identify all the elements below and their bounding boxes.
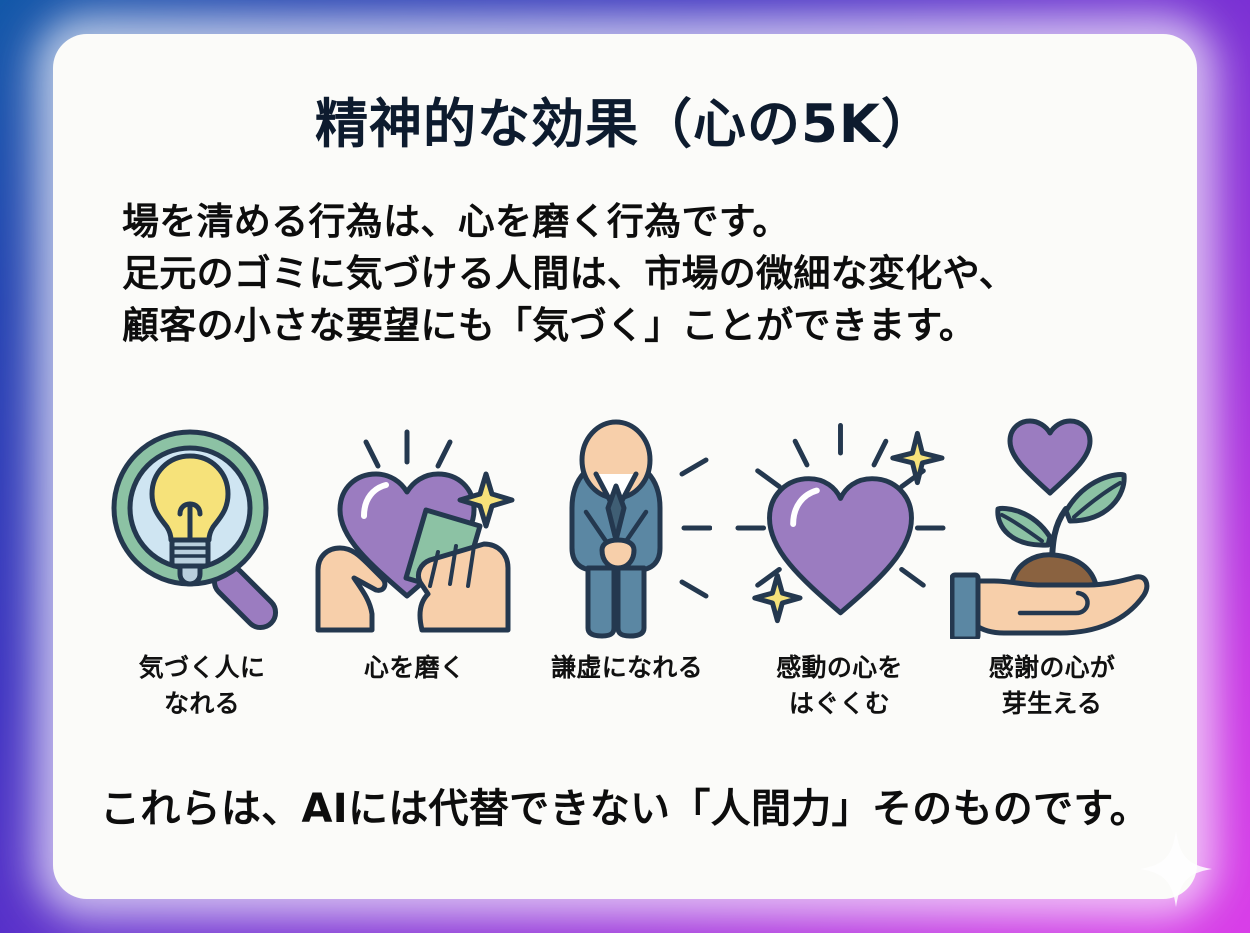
intro-line-2: 足元のゴミに気づける人間は、市場の微細な変化や、: [122, 248, 1132, 300]
benefit-caption: 感謝の心が 芽生える: [989, 650, 1116, 722]
bowing-businessman-icon: [521, 412, 733, 644]
benefit-item-gratitude: 感謝の心が 芽生える: [946, 412, 1158, 722]
intro-line-1: 場を清める行為は、心を磨く行為です。: [122, 196, 1132, 248]
hands-polishing-heart-icon: [309, 412, 521, 644]
intro-line-3: 顧客の小さな要望にも「気づく」ことができます。: [122, 300, 1132, 352]
page-title: 精神的な効果（心の5K）: [0, 82, 1250, 158]
benefit-icon-row: 気づく人に なれる: [96, 412, 1158, 722]
benefit-item-polish-heart: 心を磨く: [309, 412, 521, 686]
slide-root: 精神的な効果（心の5K） 場を清める行為は、心を磨く行為です。 足元のゴミに気づ…: [0, 0, 1250, 933]
benefit-caption: 感動の心を はぐくむ: [776, 650, 903, 722]
hand-holding-sprout-heart-icon: [946, 412, 1158, 644]
benefit-caption: 気づく人に なれる: [139, 650, 266, 722]
shining-heart-icon: [734, 412, 946, 644]
benefit-item-humility: 謙虚になれる: [521, 412, 733, 686]
benefit-item-awareness: 気づく人に なれる: [96, 412, 308, 722]
benefit-caption: 心を磨く: [364, 650, 465, 686]
benefit-caption: 謙虚になれる: [551, 650, 703, 686]
intro-paragraph: 場を清める行為は、心を磨く行為です。 足元のゴミに気づける人間は、市場の微細な変…: [122, 196, 1132, 352]
magnifier-lightbulb-icon: [96, 412, 308, 644]
closing-statement: これらは、AIには代替できない「人間力」そのものです。: [0, 776, 1250, 834]
benefit-item-emotion: 感動の心を はぐくむ: [734, 412, 946, 722]
